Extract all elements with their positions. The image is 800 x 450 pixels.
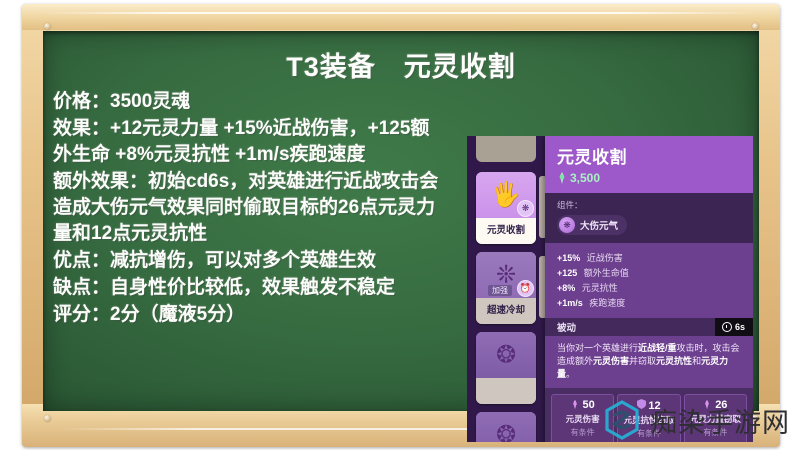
item-list-column: 元灵压制 🖐 ❋ 元灵收割 ❊ ⏰ 加强 超速冷却: [467, 136, 545, 442]
item-card-label: [476, 378, 536, 404]
burst-icon: ❋: [559, 217, 575, 233]
stat-box-value: 50: [583, 399, 595, 411]
desc-part-5: 。: [566, 369, 575, 379]
tooltip-passive-bar: 被动 6s: [545, 318, 753, 336]
item-upgrade-tag: 加强: [488, 285, 512, 296]
item-tooltip: 元灵收割 3,500 组件： ❋: [545, 136, 753, 442]
components-label: 组件：: [557, 199, 741, 211]
chalkboard-surface: T3装备 元灵收割 价格：3500灵魂 效果：+12元灵力量 +15%近战伤害，…: [43, 31, 759, 411]
stat-row: +8% 元灵抗性: [557, 281, 741, 294]
screenshot-root: T3装备 元灵收割 价格：3500灵魂 效果：+12元灵力量 +15%近战伤害，…: [0, 0, 800, 450]
clock-icon: [722, 322, 732, 332]
board-line-rating: 评分：2分（魔液5分）: [53, 302, 443, 328]
stat-row: +125 额外生命值: [557, 266, 741, 279]
passive-label: 被动: [557, 320, 576, 334]
stat-label: 近战伤害: [587, 253, 623, 263]
page-title: T3装备 元灵收割: [43, 45, 759, 84]
tooltip-components-section: 组件： ❋ 大伤元气: [545, 193, 753, 243]
stat-row: +15% 近战伤害: [557, 251, 741, 264]
cooldown-value: 6s: [735, 322, 745, 332]
tooltip-header: 元灵收割 3,500: [545, 136, 753, 193]
item-card-art: 🖐 ❋: [476, 172, 536, 218]
item-card-label: 元灵收割: [476, 218, 536, 244]
cooldown-badge: 6s: [715, 318, 753, 336]
item-card-label: 超速冷却: [476, 298, 536, 324]
soul-icon: [557, 172, 567, 184]
tooltip-stats-list: +15% 近战伤害 +125 额外生命值 +8% 元灵抗性 +1m/s 疾跑速度: [545, 243, 753, 318]
watermark-text: 痴染手游网: [650, 401, 790, 440]
desc-part-1: 当你对一个英雄进行: [557, 343, 638, 353]
item-card-chaosu-lengque[interactable]: ❊ ⏰ 加强 超速冷却: [476, 252, 536, 324]
board-line-pros: 优点：减抗增伤，可以对多个英雄生效: [53, 248, 443, 274]
chalkboard-text: 价格：3500灵魂 效果：+12元灵力量 +15%近战伤害，+125额外生命 +…: [53, 89, 443, 329]
item-card-partial-top[interactable]: 元灵压制: [476, 136, 536, 162]
stat-value: +1m/s: [557, 298, 583, 308]
board-line-cons: 缺点：自身性价比较低，效果触发不稳定: [53, 275, 443, 301]
watermark-logo-icon: [602, 400, 642, 440]
frame-top-highlight: [40, 12, 756, 14]
stat-value: +8%: [557, 283, 575, 293]
stat-label: 额外生命值: [584, 268, 629, 278]
frame-peg-top-right: [752, 23, 759, 30]
stat-label: 元灵抗性: [582, 283, 618, 293]
game-screenshot-panel: 元灵压制 🖐 ❋ 元灵收割 ❊ ⏰ 加强 超速冷却: [467, 136, 753, 442]
item-card-art: ❂: [476, 412, 536, 442]
desc-bold-3: 元灵抗性: [656, 356, 692, 366]
soul-icon: [571, 399, 581, 411]
stat-value: +125: [557, 268, 577, 278]
item-card-yuanling-shouge[interactable]: 🖐 ❋ 元灵收割: [476, 172, 536, 244]
tooltip-description: 当你对一个英雄进行近战轻/重攻击时，攻击会造成额外元灵伤害并窃取元灵抗性和元灵力…: [545, 336, 753, 388]
tooltip-price: 3,500: [557, 171, 743, 185]
tooltip-item-name: 元灵收割: [557, 143, 743, 168]
cooldown-icon: ⏰: [517, 280, 534, 297]
item-icon: ❂: [496, 341, 516, 370]
item-card-art: ❊ ⏰ 加强: [476, 252, 536, 298]
desc-part-3: 并窃取: [629, 356, 656, 366]
stat-row: +1m/s 疾跑速度: [557, 296, 741, 309]
frame-top-rail: [22, 4, 780, 30]
site-watermark: 痴染手游网: [602, 400, 790, 440]
item-icon: ❂: [496, 421, 516, 443]
stat-label: 疾跑速度: [589, 298, 625, 308]
component-chip[interactable]: ❋ 大伤元气: [557, 215, 627, 235]
desc-bold-1: 近战轻/重: [638, 343, 677, 353]
tooltip-price-value: 3,500: [570, 171, 600, 185]
board-line-extra: 额外效果：初始cd6s，对英雄进行近战攻击会造成大伤元气效果同时偷取目标的26点…: [53, 169, 443, 247]
component-name: 大伤元气: [580, 218, 618, 232]
board-line-effect: 效果：+12元灵力量 +15%近战伤害，+125额外生命 +8%元灵抗性 +1m…: [53, 116, 443, 168]
stat-value: +15%: [557, 253, 580, 263]
item-card-row-3[interactable]: ❂: [476, 332, 536, 404]
desc-bold-2: 元灵伤害: [593, 356, 629, 366]
frame-peg-bottom-left: [44, 415, 51, 422]
board-line-price: 价格：3500灵魂: [53, 89, 443, 115]
item-card-art: ❂: [476, 332, 536, 378]
desc-part-4: 和: [692, 356, 701, 366]
burst-icon: ❋: [517, 200, 534, 217]
item-card-row-4[interactable]: ❂: [476, 412, 536, 442]
frame-peg-top-left: [44, 23, 51, 30]
